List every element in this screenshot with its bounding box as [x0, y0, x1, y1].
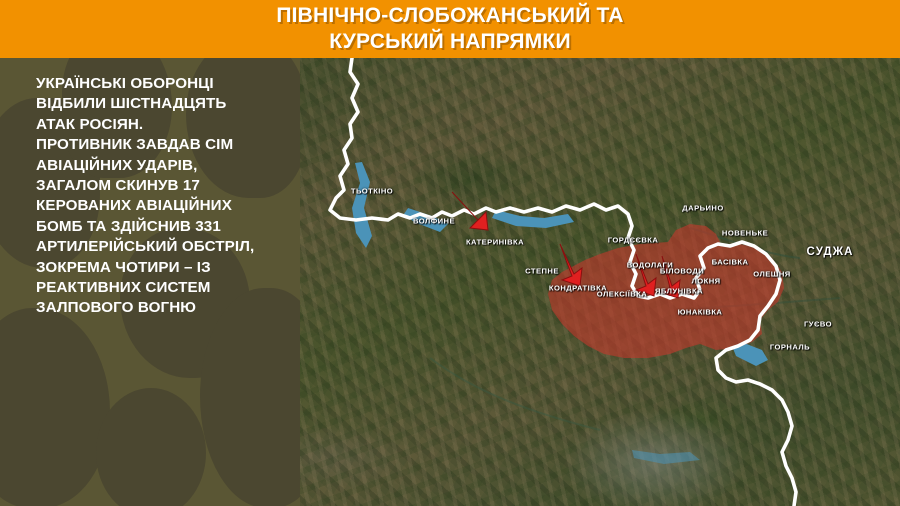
- map-label-гуєво: ГУЄВО: [804, 320, 832, 329]
- map-label-юнаківка: ЮНАКІВКА: [678, 308, 723, 317]
- attack-arrow-volfyne: [452, 192, 488, 230]
- map-label-басівка: БАСІВКА: [712, 258, 749, 267]
- map-label-біловоди: БІЛОВОДИ: [660, 267, 704, 276]
- panel-body-text: УКРАЇНСЬКІ ОБОРОНЦІ ВІДБИЛИ ШІСТНАДЦЯТЬ …: [0, 58, 300, 319]
- map-label-олешня: ОЛЕШНЯ: [753, 270, 790, 279]
- header-bar: ПІВНІЧНО-СЛОБОЖАНСЬКИЙ ТА КУРСЬКИЙ НАПРЯ…: [0, 0, 900, 58]
- map-label-локня: ЛОКНЯ: [691, 277, 720, 286]
- map-label-новеньке: НОВЕНЬКЕ: [722, 229, 768, 238]
- map-label-олексіївка: ОЛЕКСІЇВКА: [597, 290, 647, 299]
- page-title: ПІВНІЧНО-СЛОБОЖАНСЬКИЙ ТА КУРСЬКИЙ НАПРЯ…: [276, 3, 623, 55]
- map-label-горналь: ГОРНАЛЬ: [770, 343, 810, 352]
- map-label-гордєєвка: ГОРДЄЄВКА: [608, 236, 659, 245]
- attack-arrow-stepne: [560, 244, 582, 286]
- map-label-тьоткіно: ТЬОТКІНО: [351, 187, 393, 196]
- map-label-катеринівка: КАТЕРИНІВКА: [466, 238, 524, 247]
- map-label-волфине: ВОЛФИНЕ: [413, 217, 455, 226]
- infographic-root: ТЬОТКІНОВОЛФИНЕКАТЕРИНІВКАСТЕПНЕДАРЬИНОГ…: [0, 0, 900, 506]
- map-label-яблунівка: ЯБЛУНІВКА: [655, 287, 703, 296]
- summary-panel: УКРАЇНСЬКІ ОБОРОНЦІ ВІДБИЛИ ШІСТНАДЦЯТЬ …: [0, 58, 300, 506]
- map-label-дарьино: ДАРЬИНО: [682, 204, 723, 213]
- map-label-степне: СТЕПНЕ: [525, 267, 559, 276]
- map-label-суджа: СУДЖА: [806, 246, 853, 258]
